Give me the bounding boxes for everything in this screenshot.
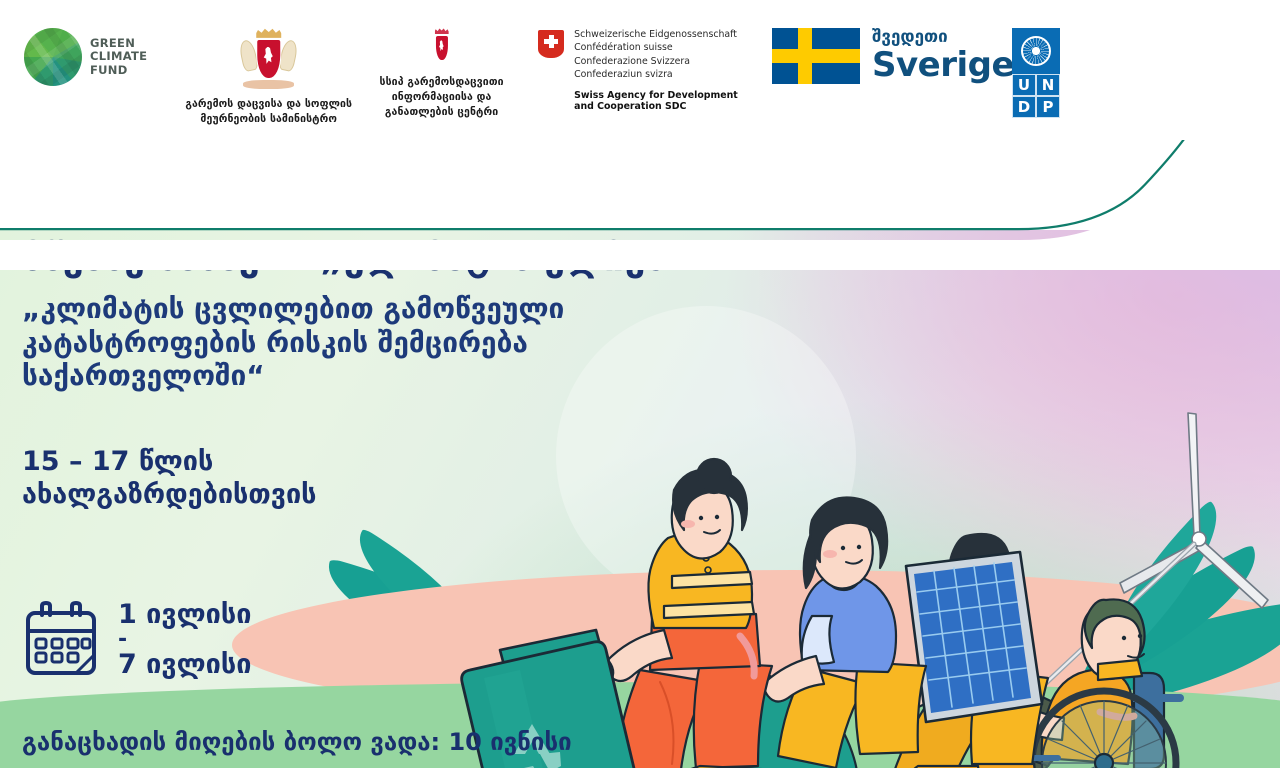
ministry-name: გარემოს დაცვისა და სოფლის მეურნეობის სამ…	[184, 97, 353, 127]
georgia-coat-of-arms-icon	[240, 28, 298, 90]
audience-line-2: ახალგაზრდებისთვის	[22, 478, 722, 511]
application-deadline: განაცხადის მიღების ბოლო ვადა: 10 ივნისი	[22, 728, 572, 756]
swiss-line-rm: Confederaziun svizra	[574, 68, 738, 81]
undp-letter-u: U	[1012, 74, 1036, 96]
date-start: 1 ივლისი	[118, 600, 251, 630]
date-separator: -	[118, 630, 251, 650]
swiss-shield-icon	[538, 30, 564, 58]
gcf-line-3: FUND	[90, 64, 147, 78]
center-line-3: განათლების ცენტრი	[367, 105, 516, 120]
swiss-line-it: Confederazione Svizzera	[574, 55, 738, 68]
sweden-flag-icon	[772, 28, 860, 84]
undp-letter-p: P	[1036, 96, 1060, 118]
info-center-name: სსიპ გარემოსდაცვითი ინფორმაციისა და განა…	[367, 75, 516, 120]
undp-letter-d: D	[1012, 96, 1036, 118]
swiss-agency-line-1: Swiss Agency for Development	[574, 90, 738, 101]
subtitle-line-1: „კლიმატის ცვლილებით გამოწვეული	[22, 292, 722, 326]
date-end: 7 ივლისი	[118, 650, 251, 680]
wind-turbine-icon	[1030, 413, 1268, 698]
audience-age-range: 15 – 17 წლის ახალგაზრდებისთვის	[22, 445, 722, 512]
logo-undp: U N D P	[1012, 28, 1060, 118]
logo-environmental-info-center: სსიპ გარემოსდაცვითი ინფორმაციისა და განა…	[367, 28, 516, 120]
ministry-line-2: მეურნეობის სამინისტრო	[184, 112, 353, 127]
undp-letter-n: N	[1036, 74, 1060, 96]
text-column: მწვანე ბანაკი - „კლიმატის ელჩები“ „კლიმა…	[22, 238, 722, 512]
sweden-label-en: Sverige	[872, 48, 1014, 84]
swiss-line-fr: Confédération suisse	[574, 41, 738, 54]
page-subtitle: „კლიმატის ცვლილებით გამოწვეული კატასტროფ…	[22, 292, 722, 393]
logo-row: GREEN CLIMATE FUND გარემოს დაცვისა და სო…	[0, 28, 1060, 138]
subtitle-line-2: კატასტროფების რისკის შემცირება	[22, 326, 722, 360]
event-dates: 1 ივლისი - 7 ივლისი	[22, 600, 251, 680]
center-line-1: სსიპ გარემოსდაცვითი	[367, 75, 516, 90]
header-curve-divider	[0, 140, 1280, 270]
sweden-wordmark: შვედეთი Sverige	[872, 29, 1014, 84]
logo-sweden: შვედეთი Sverige	[772, 28, 992, 84]
swiss-line-de: Schweizerische Eidgenossenschaft	[574, 28, 738, 41]
calendar-icon	[22, 601, 100, 679]
audience-line-1: 15 – 17 წლის	[22, 445, 722, 478]
georgia-coat-of-arms-small-icon	[426, 28, 458, 68]
logo-swiss-cooperation: Schweizerische Eidgenossenschaft Confédé…	[538, 28, 746, 112]
ministry-line-1: გარემოს დაცვისა და სოფლის	[184, 97, 353, 112]
date-range-text: 1 ივლისი - 7 ივლისი	[118, 600, 251, 680]
gcf-line-1: GREEN	[90, 37, 147, 51]
swiss-agency-line-2: and Cooperation SDC	[574, 101, 738, 112]
logo-ministry: გარემოს დაცვისა და სოფლის მეურნეობის სამ…	[184, 28, 353, 127]
globe-polygon-icon	[24, 28, 82, 86]
solar-panel-icon	[906, 552, 1042, 722]
swiss-text-block: Schweizerische Eidgenossenschaft Confédé…	[574, 28, 738, 112]
sweden-label-ka: შვედეთი	[872, 29, 1014, 46]
poster-root: GREEN CLIMATE FUND გარემოს დაცვისა და სო…	[0, 0, 1280, 768]
gcf-line-2: CLIMATE	[90, 50, 147, 64]
undp-letters: U N D P	[1012, 74, 1060, 118]
gcf-wordmark: GREEN CLIMATE FUND	[90, 37, 147, 78]
center-line-2: ინფორმაციისა და	[367, 90, 516, 105]
logo-green-climate-fund: GREEN CLIMATE FUND	[24, 28, 156, 86]
subtitle-line-3: საქართველოში“	[22, 359, 722, 393]
un-emblem-icon	[1012, 28, 1060, 74]
